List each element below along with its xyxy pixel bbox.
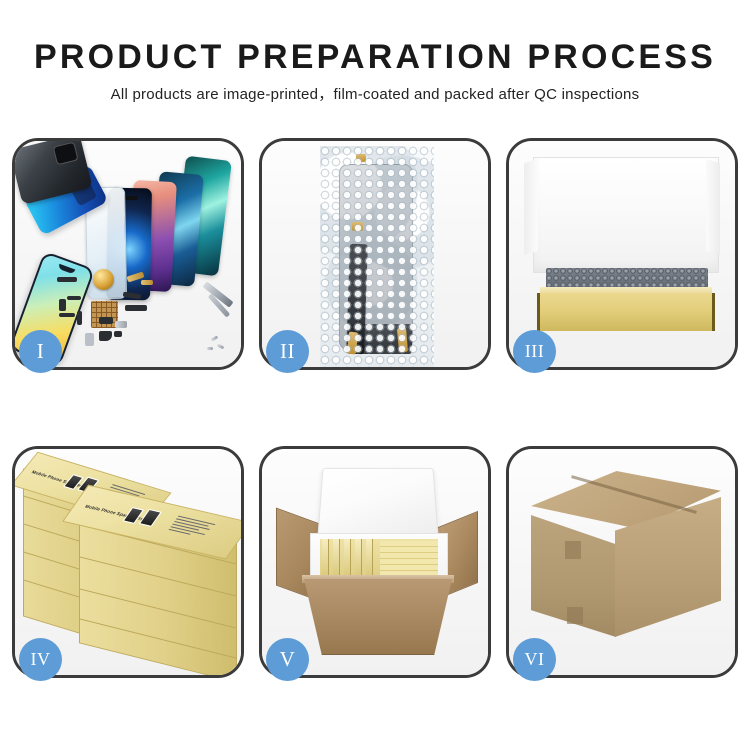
part-gold-clip-icon [141,280,153,285]
step-badge-2: II [266,330,309,373]
step-badge-5: V [266,638,309,681]
panel-boxes-stacked[interactable]: Mobile Phone Spare Parts Mobile Phone Sp… [12,446,244,678]
part-screw2-icon [217,344,225,350]
carton-body-icon [304,579,452,655]
carton-tape-upper-icon [565,541,581,559]
process-step-grid: I II III [12,138,739,678]
panel-sealed-carton[interactable]: VI [506,446,738,678]
step-badge-1: I [19,330,62,373]
header: PRODUCT PREPARATION PROCESS All products… [0,0,750,104]
packed-boxes-flat-icon [380,541,438,579]
styrofoam-lid-icon [317,468,439,539]
box-lid-left-flap-icon [524,159,538,255]
part-bar-icon [57,277,77,282]
step-badge-6: VI [513,638,556,681]
box-lid-open-icon [533,157,719,273]
camera-ring-part-icon [93,269,114,290]
part-pin-icon [77,311,82,325]
part-screw3-icon [207,347,213,350]
page-subtitle: All products are image-printed，film-coat… [0,85,750,104]
panel-carton-styrofoam[interactable]: V [259,446,491,678]
part-strip2-icon [59,313,75,317]
yellow-box-front-icon [537,293,715,331]
carton-tape-lower-icon [567,607,583,624]
part-battery-icon [85,333,94,346]
step-badge-4: IV [19,638,62,681]
part-speaker-icon [99,331,112,341]
step-badge-3: III [513,330,556,373]
bubble-wrap-bag [320,146,434,367]
part-connector-icon [125,305,147,311]
box-label-spec-lines-front [167,516,215,540]
box-lid-right-flap-icon [706,159,720,255]
part-chip2-icon [114,331,122,337]
bubble-texture [320,146,434,367]
panel-bubble-wrap[interactable]: II [259,138,491,370]
part-strip-icon [67,296,81,300]
page-title: PRODUCT PREPARATION PROCESS [0,38,750,76]
part-shield-icon [115,321,127,328]
part-module-icon [99,317,113,324]
panel-product-assortment[interactable]: I [12,138,244,370]
part-screw-icon [211,335,219,341]
part-bracket-icon [59,299,66,311]
panel-inner-box-foam[interactable]: III [506,138,738,370]
